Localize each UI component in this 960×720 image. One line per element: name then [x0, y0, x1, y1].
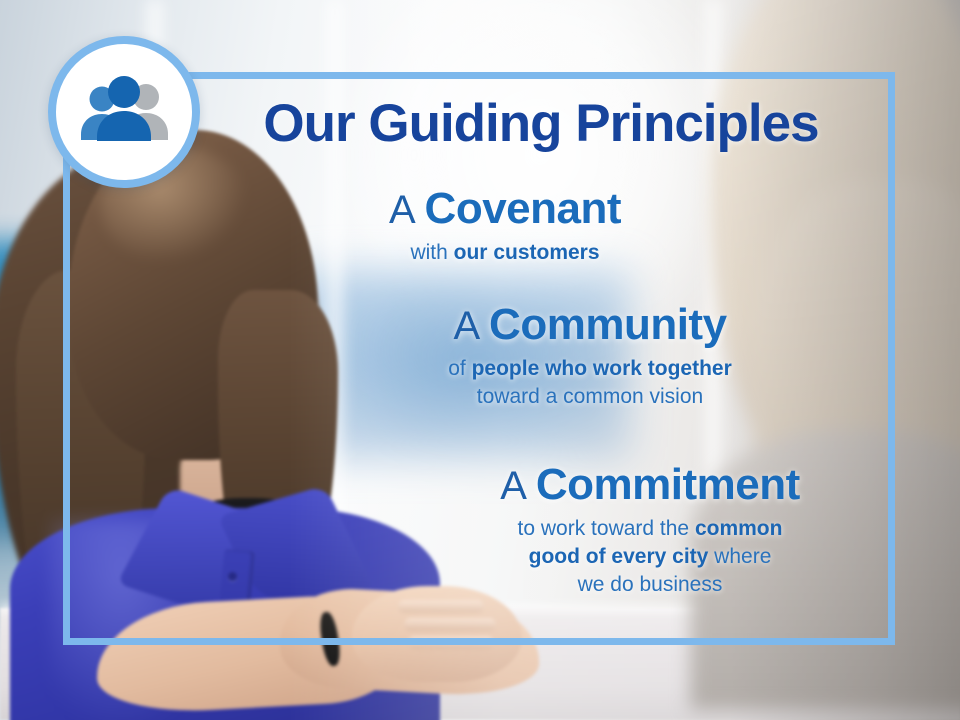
principle-subtext: of people who work together toward a com…	[380, 355, 800, 410]
principle-heading: A Commitment	[430, 462, 870, 508]
page-title: Our Guiding Principles	[216, 96, 866, 152]
principle-commitment: A Commitment to work toward the common g…	[430, 462, 870, 600]
principle-keyword: Covenant	[425, 184, 621, 233]
principle-lead: A	[453, 304, 489, 348]
principle-keyword: Community	[489, 300, 727, 349]
principle-covenant: A Covenant with our customers	[330, 186, 680, 267]
principle-lead: A	[389, 188, 425, 232]
principle-subtext: with our customers	[330, 239, 680, 267]
banner-graphic: FLOW AUTOMOTIVE FLOW	[0, 0, 960, 720]
subtext-line: with our customers	[410, 241, 599, 264]
principle-heading: A Community	[380, 302, 800, 348]
principle-community: A Community of people who work together …	[380, 302, 800, 411]
subtext-line: to work toward the common	[430, 515, 870, 543]
subtext-line: toward a common vision	[380, 383, 800, 411]
principle-heading: A Covenant	[330, 186, 680, 232]
subtext-line: we do business	[430, 571, 870, 599]
subtext-line: of people who work together	[380, 355, 800, 383]
subtext-line: good of every city where	[430, 543, 870, 571]
principle-keyword: Commitment	[536, 460, 800, 509]
principle-lead: A	[500, 464, 536, 508]
text-overlay: Our Guiding Principles A Covenant with o…	[0, 0, 960, 720]
principle-subtext: to work toward the common good of every …	[430, 515, 870, 599]
